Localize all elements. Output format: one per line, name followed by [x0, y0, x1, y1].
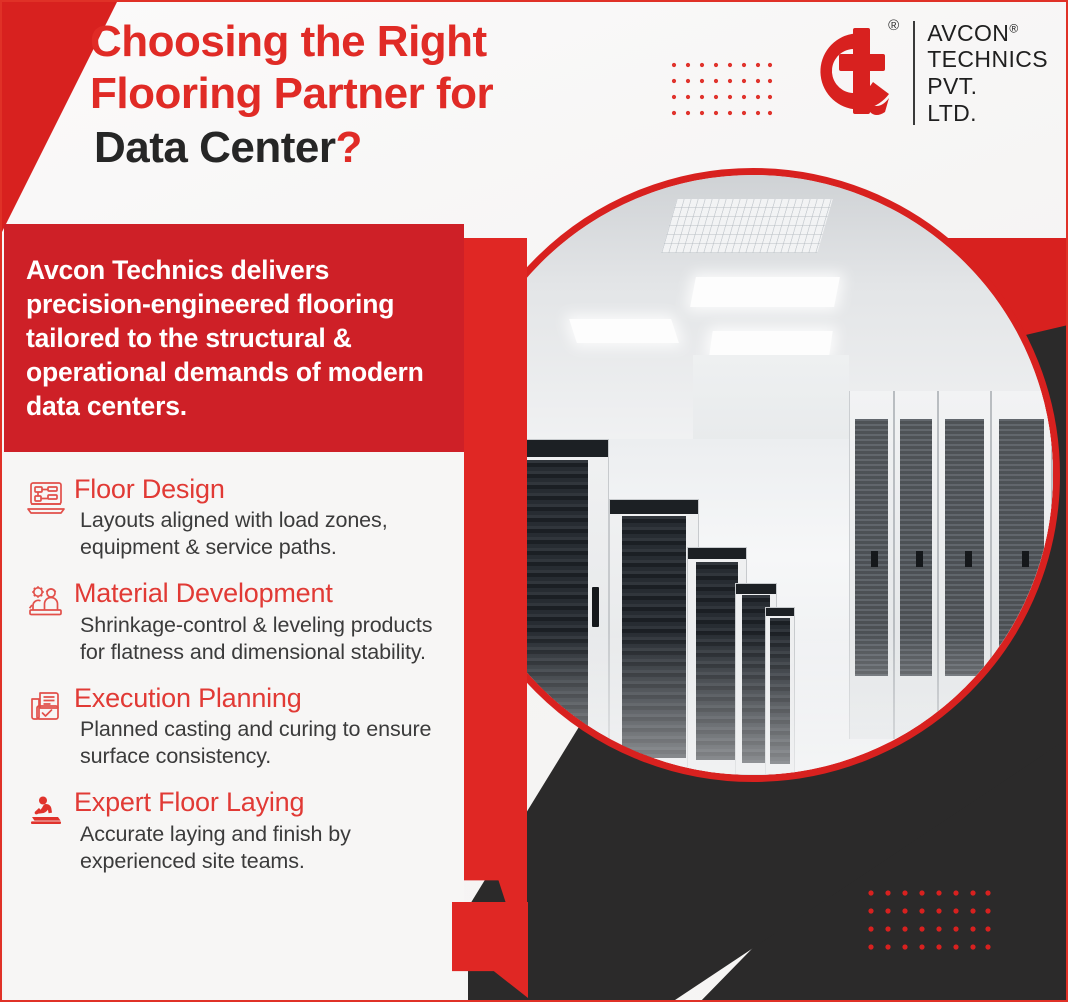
logo-name-line-4: LTD.: [927, 100, 1048, 127]
avcon-ct-monogram-icon: ®: [803, 18, 901, 128]
logo-divider: [913, 21, 915, 125]
laptop-flowchart-icon: [26, 480, 66, 516]
logo-name-registered: ®: [1009, 21, 1018, 35]
feature-title: Execution Planning: [74, 683, 452, 714]
description-text: Avcon Technics delivers precision-engine…: [26, 253, 442, 424]
feature-item-floor-design: Floor Design Layouts aligned with load z…: [22, 474, 452, 561]
headline-line-3: Data Center?: [94, 120, 690, 175]
headline-line-1: Choosing the Right: [90, 16, 690, 68]
engineers-team-icon: [26, 584, 66, 620]
worker-laying-floor-icon: [26, 793, 66, 829]
avcon-ct-monogram-svg: [803, 18, 901, 128]
brand-logo: ® AVCON® TECHNICS PVT. LTD.: [803, 18, 1048, 128]
headline-line-3-text: Data Center: [94, 123, 335, 172]
logo-mark-registered: ®: [888, 18, 899, 33]
headline-question-mark: ?: [335, 123, 361, 172]
photo-ceiling-light: [569, 319, 679, 343]
photo-inner: [453, 175, 1053, 775]
feature-title: Expert Floor Laying: [74, 787, 452, 818]
description-band: Avcon Technics delivers precision-engine…: [4, 224, 464, 452]
feature-description: Planned casting and curing to ensure sur…: [80, 716, 452, 770]
feature-item-execution-planning: Execution Planning Planned casting and c…: [22, 683, 452, 770]
feature-title: Floor Design: [74, 474, 452, 505]
logo-name-line-2: TECHNICS: [927, 46, 1048, 73]
logo-name-line-1: AVCON®: [927, 20, 1048, 47]
page-title: Choosing the Right Flooring Partner for …: [90, 16, 690, 175]
feature-item-expert-floor-laying: Expert Floor Laying Accurate laying and …: [22, 787, 452, 874]
folder-checklist-icon: [26, 689, 66, 725]
logo-wordmark: AVCON® TECHNICS PVT. LTD.: [927, 20, 1048, 127]
photo-floor-reflection: [453, 631, 1053, 775]
photo-ceiling-light: [709, 331, 832, 355]
decor-dot-grid-bottom: [866, 888, 994, 952]
feature-description: Layouts aligned with load zones, equipme…: [80, 507, 452, 561]
data-center-photo: [446, 168, 1060, 782]
poster-canvas: Choosing the Right Flooring Partner for …: [0, 0, 1068, 1002]
decor-dot-grid-top: [670, 60, 774, 118]
headline-line-2: Flooring Partner for: [90, 68, 690, 120]
feature-title: Material Development: [74, 578, 452, 609]
photo-ceiling-grid: [661, 199, 832, 253]
photo-ceiling-light: [690, 277, 840, 307]
feature-description: Accurate laying and finish by experience…: [80, 821, 452, 875]
feature-item-material-development: Material Development Shrinkage-control &…: [22, 578, 452, 665]
feature-description: Shrinkage-control & leveling products fo…: [80, 612, 452, 666]
feature-list: Floor Design Layouts aligned with load z…: [22, 474, 452, 892]
logo-name-line-3: PVT.: [927, 73, 1048, 100]
